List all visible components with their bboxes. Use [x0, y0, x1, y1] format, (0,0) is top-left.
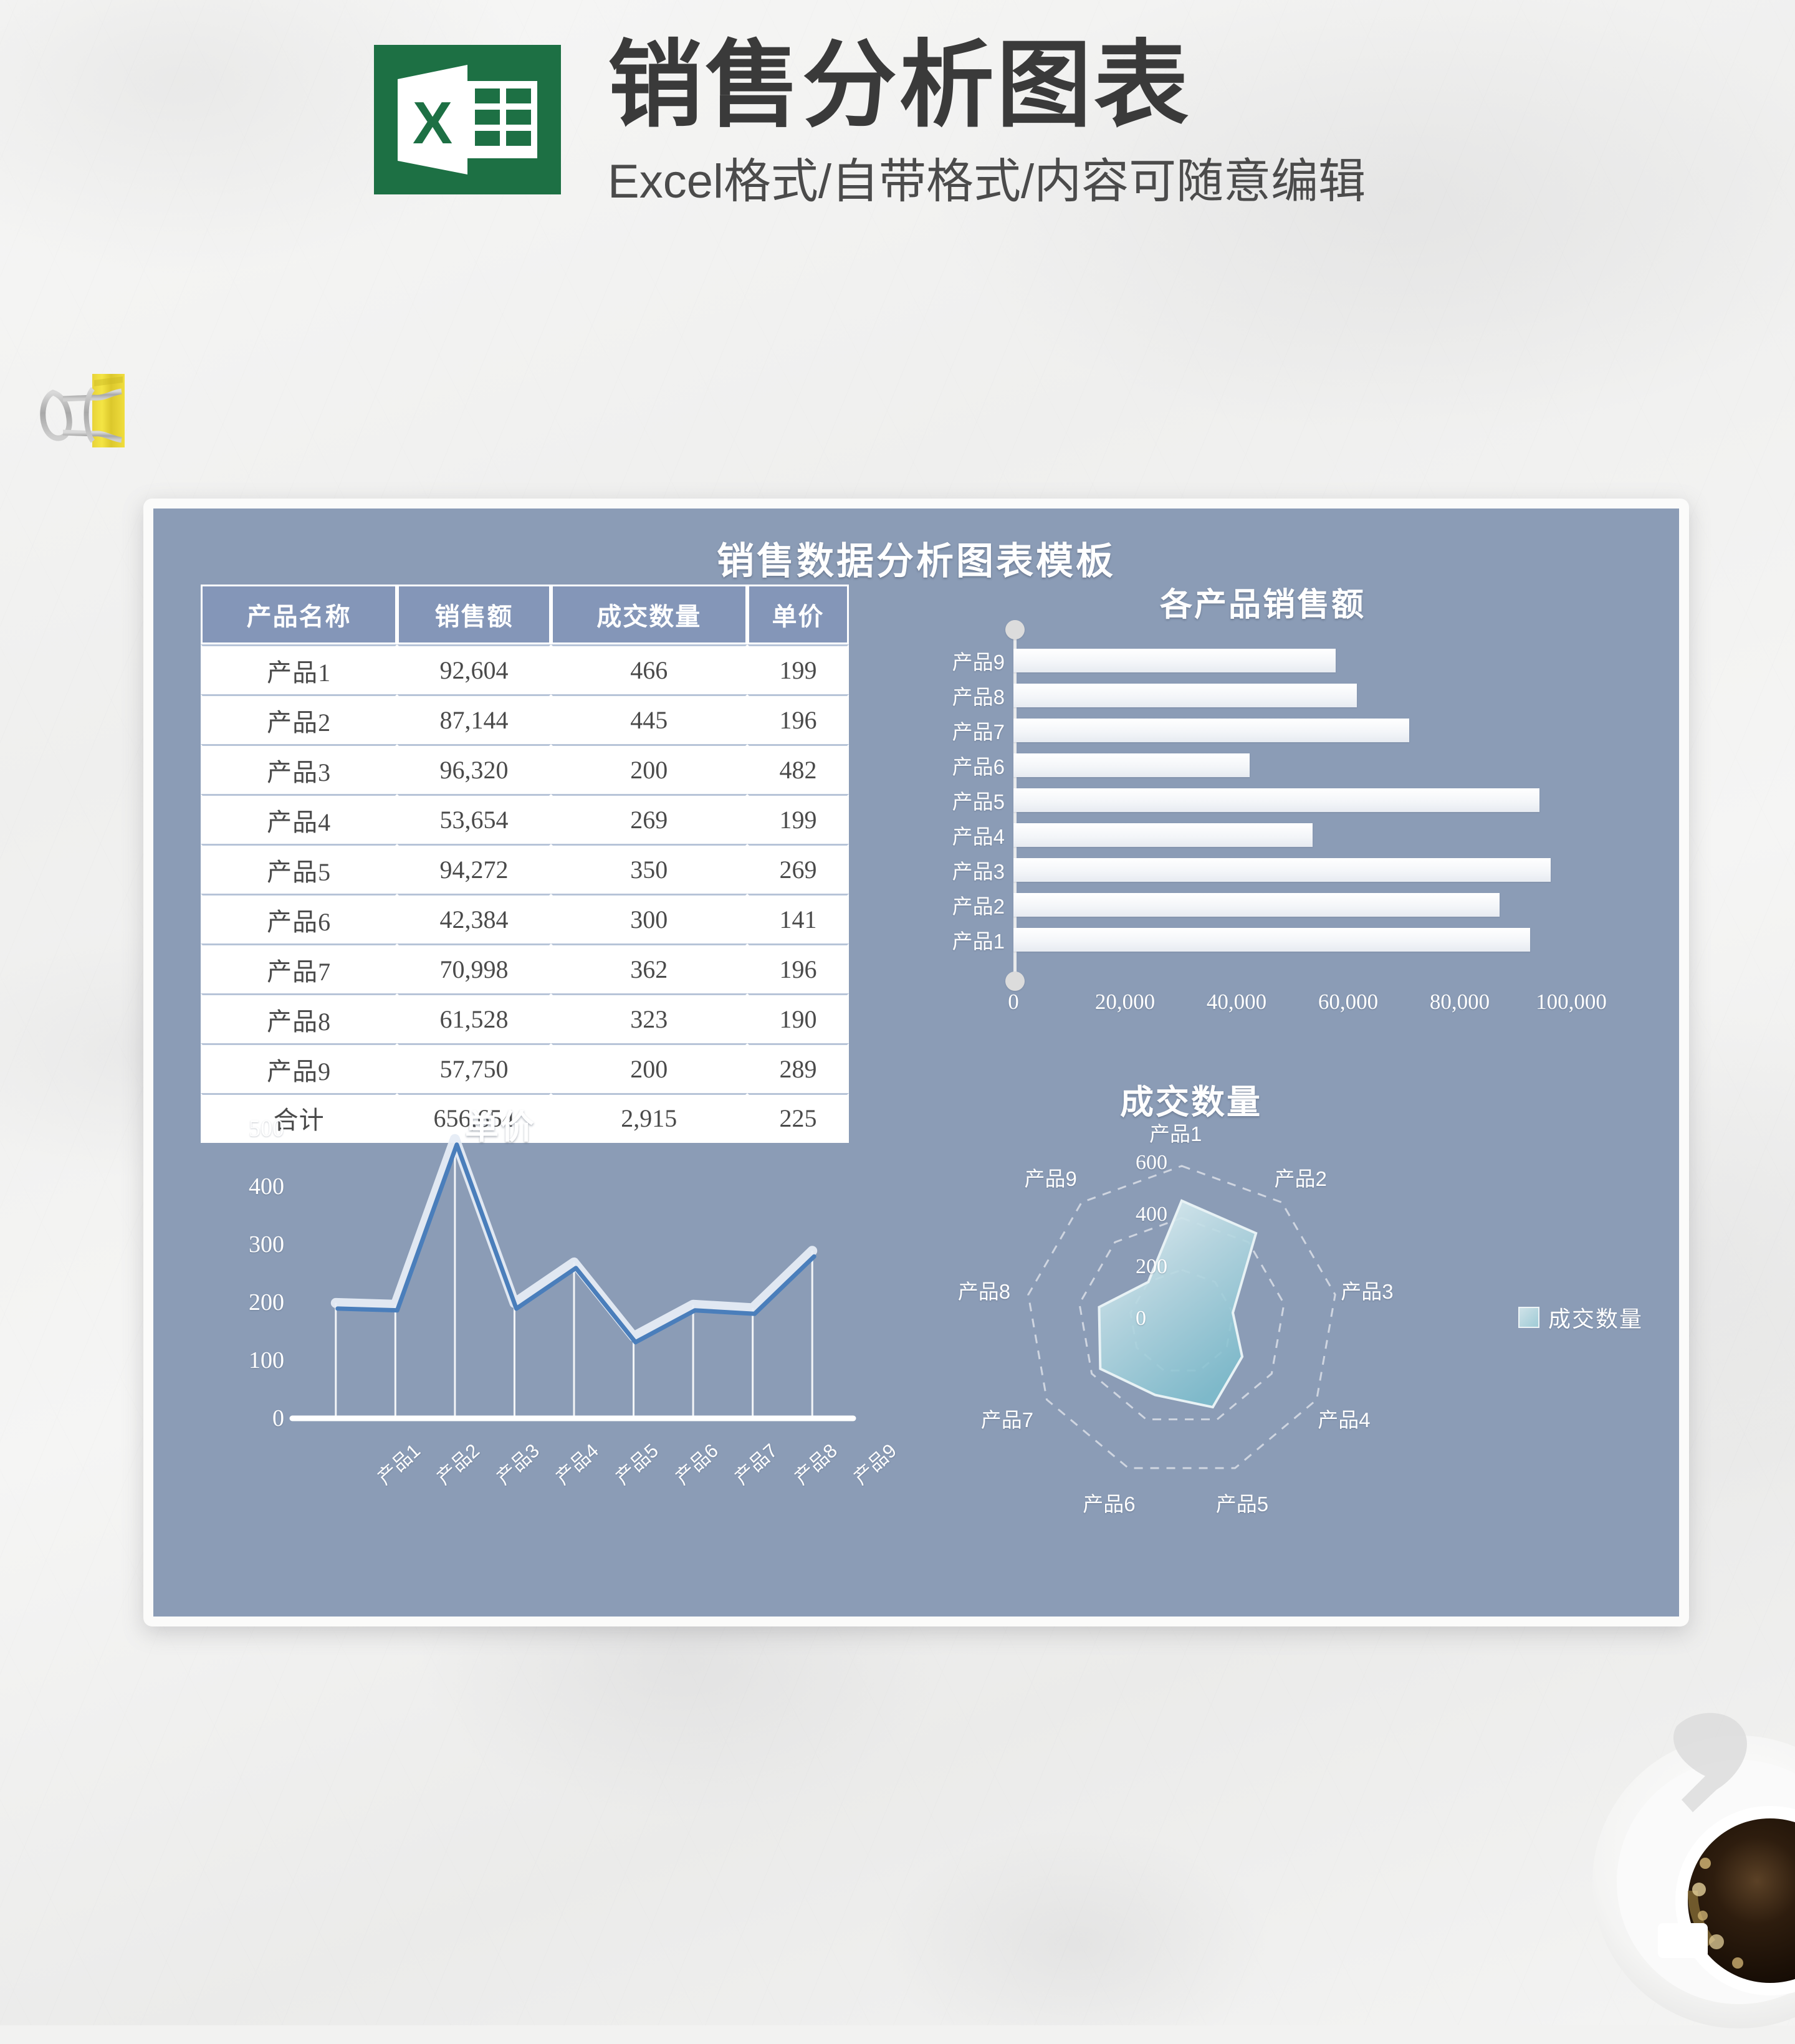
- page-title: 销售分析图表: [608, 31, 1366, 140]
- slide-panel: 销售数据分析图表模板 产品名称 销售额 成交数量 单价 产品1 92,604 4…: [153, 509, 1679, 1617]
- bar-category-label: 产品8: [952, 681, 1005, 710]
- axis-cap-top-icon: [1005, 620, 1025, 639]
- radar-category-label: 产品3: [1341, 1275, 1393, 1305]
- excel-logo-icon: X: [374, 45, 561, 194]
- cell-sales: 92,604: [397, 644, 550, 694]
- bar-row: 产品8: [1013, 684, 1571, 707]
- bar-row: 产品6: [1013, 753, 1571, 777]
- page-header: X 销售分析图表 Excel格式/自带格式/内容可随意编辑: [0, 0, 1795, 262]
- cell-product-name: 产品2: [201, 694, 397, 744]
- col-sales-amount: 销售额: [397, 585, 550, 644]
- col-quantity: 成交数量: [551, 585, 747, 644]
- line-y-tick-label: 500: [216, 1115, 284, 1142]
- bar-fill: [1013, 719, 1409, 742]
- bar-x-tick-label: 100,000: [1536, 990, 1607, 1015]
- cell-price: 196: [747, 694, 849, 744]
- bar-fill: [1013, 858, 1551, 882]
- bar-fill: [1013, 928, 1530, 952]
- cell-product-name: 产品3: [201, 744, 397, 794]
- radar-category-label: 产品1: [1149, 1117, 1202, 1147]
- line-chart: 单价 0100200300400500产品1产品2产品3产品4产品5产品6产品7…: [191, 1069, 901, 1580]
- cell-price: 190: [747, 993, 849, 1043]
- cell-product-name: 产品4: [201, 794, 397, 844]
- radar-series-area: [1099, 1201, 1256, 1407]
- cell-qty: 269: [551, 794, 747, 844]
- bar-x-tick-label: 20,000: [1095, 990, 1155, 1015]
- radar-radial-tick-label: 200: [1136, 1255, 1167, 1279]
- bar-chart-title: 各产品销售额: [895, 578, 1630, 625]
- header-text-block: 销售分析图表 Excel格式/自带格式/内容可随意编辑: [608, 31, 1366, 211]
- cell-product-name: 产品6: [201, 894, 397, 943]
- bar-row: 产品7: [1013, 719, 1571, 742]
- bar-category-label: 产品4: [952, 820, 1005, 850]
- cell-sales: 94,272: [397, 844, 550, 894]
- bar-fill: [1013, 753, 1250, 777]
- radar-radial-tick-label: 400: [1136, 1203, 1167, 1226]
- line-y-tick-label: 400: [216, 1173, 284, 1200]
- col-product-name: 产品名称: [201, 585, 397, 644]
- cell-qty: 200: [551, 744, 747, 794]
- cell-qty: 445: [551, 694, 747, 744]
- cell-sales: 53,654: [397, 794, 550, 844]
- bar-category-label: 产品6: [952, 750, 1005, 780]
- bar-x-tick-label: 80,000: [1430, 990, 1490, 1015]
- bar-row: 产品9: [1013, 649, 1571, 672]
- col-unit-price: 单价: [747, 585, 849, 644]
- cell-price: 196: [747, 943, 849, 993]
- bar-row: 产品2: [1013, 893, 1571, 917]
- radar-category-label: 产品8: [958, 1275, 1010, 1305]
- table-row: 产品7 70,998 362 196: [201, 943, 849, 993]
- cell-qty: 323: [551, 993, 747, 1043]
- radar-category-label: 产品6: [1083, 1488, 1135, 1517]
- radar-category-label: 产品4: [1318, 1403, 1370, 1433]
- cell-sales: 61,528: [397, 993, 550, 1043]
- table-row: 产品1 92,604 466 199: [201, 644, 849, 694]
- line-y-tick-label: 100: [216, 1347, 284, 1374]
- bar-x-tick-label: 0: [1008, 990, 1019, 1015]
- cell-qty: 466: [551, 644, 747, 694]
- radar-chart-legend: 成交数量: [1518, 1301, 1643, 1334]
- cell-product-name: 产品5: [201, 844, 397, 894]
- bar-row: 产品5: [1013, 788, 1571, 812]
- cell-sales: 96,320: [397, 744, 550, 794]
- table-row: 产品4 53,654 269 199: [201, 794, 849, 844]
- bar-row: 产品1: [1013, 928, 1571, 952]
- bar-fill: [1013, 823, 1313, 847]
- bar-category-label: 产品9: [952, 646, 1005, 676]
- radar-category-label: 产品7: [981, 1403, 1033, 1433]
- axis-cap-bottom-icon: [1005, 972, 1025, 991]
- bar-category-label: 产品1: [952, 925, 1005, 955]
- cell-sales: 42,384: [397, 894, 550, 943]
- bar-x-tick-label: 40,000: [1207, 990, 1266, 1015]
- line-series: [338, 1145, 814, 1342]
- cell-sales: 87,144: [397, 694, 550, 744]
- bar-category-label: 产品3: [952, 855, 1005, 885]
- line-y-tick-label: 300: [216, 1231, 284, 1258]
- cell-qty: 350: [551, 844, 747, 894]
- cell-qty: 362: [551, 943, 747, 993]
- radar-chart: 成交数量 产品1产品2产品3产品4产品5产品6产品7产品8产品902004006…: [901, 1057, 1649, 1587]
- cell-qty: 300: [551, 894, 747, 943]
- table-header-row: 产品名称 销售额 成交数量 单价: [201, 585, 849, 644]
- radar-category-label: 产品9: [1024, 1162, 1076, 1192]
- radar-category-label: 产品5: [1216, 1488, 1268, 1517]
- bar-fill: [1013, 684, 1357, 707]
- table-row: 产品5 94,272 350 269: [201, 844, 849, 894]
- cell-price: 482: [747, 744, 849, 794]
- slide-panel-frame: 销售数据分析图表模板 产品名称 销售额 成交数量 单价 产品1 92,604 4…: [143, 499, 1689, 1626]
- table-row: 产品3 96,320 200 482: [201, 744, 849, 794]
- sales-data-table: 产品名称 销售额 成交数量 单价 产品1 92,604 466 199 产品2 …: [201, 585, 849, 1143]
- bar-fill: [1013, 788, 1539, 812]
- radar-category-label: 产品2: [1275, 1162, 1327, 1192]
- cell-product-name: 产品7: [201, 943, 397, 993]
- bar-category-label: 产品2: [952, 890, 1005, 920]
- table-row: 产品6 42,384 300 141: [201, 894, 849, 943]
- cell-price: 269: [747, 844, 849, 894]
- legend-swatch-icon: [1518, 1307, 1539, 1328]
- line-y-tick-label: 200: [216, 1289, 284, 1316]
- cell-sales: 70,998: [397, 943, 550, 993]
- table-row: 产品2 87,144 445 196: [201, 694, 849, 744]
- cell-price: 199: [747, 644, 849, 694]
- cell-price: 199: [747, 794, 849, 844]
- radar-radial-tick-label: 0: [1136, 1307, 1146, 1330]
- binder-clip-icon: [34, 368, 153, 474]
- bar-row: 产品3: [1013, 858, 1571, 882]
- page-subtitle: Excel格式/自带格式/内容可随意编辑: [608, 143, 1366, 211]
- bar-row: 产品4: [1013, 823, 1571, 847]
- bar-chart-x-axis: 020,00040,00060,00080,000100,000: [1013, 990, 1590, 1021]
- bar-chart-plot: 产品9产品8产品7产品6产品5产品4产品3产品2产品1: [1013, 644, 1571, 968]
- bar-fill: [1013, 649, 1336, 672]
- bar-category-label: 产品5: [952, 785, 1005, 815]
- svg-text:X: X: [413, 90, 452, 156]
- cell-product-name: 产品8: [201, 993, 397, 1043]
- bar-fill: [1013, 893, 1500, 917]
- bar-x-tick-label: 60,000: [1318, 990, 1378, 1015]
- legend-label: 成交数量: [1548, 1301, 1643, 1334]
- cell-price: 141: [747, 894, 849, 943]
- coffee-cup-photo: [1583, 1645, 1795, 2044]
- table-row: 产品8 61,528 323 190: [201, 993, 849, 1043]
- radar-radial-tick-label: 600: [1136, 1151, 1167, 1175]
- bar-category-label: 产品7: [952, 715, 1005, 745]
- line-chart-svg: [191, 1069, 901, 1580]
- bar-chart: 各产品销售额 产品9产品8产品7产品6产品5产品4产品3产品2产品1 020,0…: [895, 578, 1630, 1058]
- panel-title: 销售数据分析图表模板: [153, 531, 1679, 585]
- cell-product-name: 产品1: [201, 644, 397, 694]
- line-y-tick-label: 0: [216, 1405, 284, 1432]
